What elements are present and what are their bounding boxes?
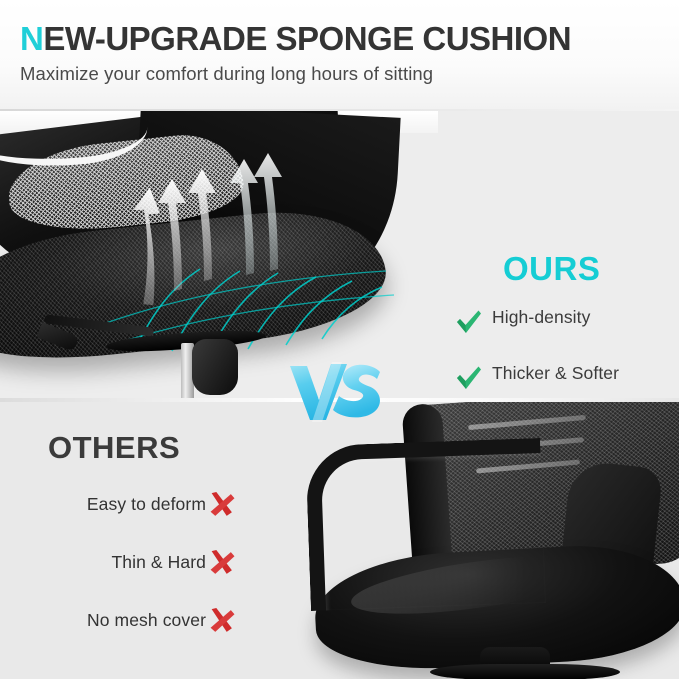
cylinder-cover	[192, 339, 238, 395]
left-armrest	[305, 438, 546, 611]
cross-icon	[208, 550, 235, 575]
page-subtitle: Maximize your comfort during long hours …	[20, 63, 679, 85]
list-item: Easy to deform	[20, 492, 235, 517]
header-banner: NEW-UPGRADE SPONGE CUSHION Maximize your…	[0, 0, 679, 110]
others-panel: OTHERS Easy to deform Thin & Hard No mes…	[0, 402, 679, 679]
ours-item-label: High-density	[492, 307, 590, 328]
ours-feature-list: High-density Thicker & Softer Breathable…	[455, 307, 670, 400]
product-comparison-infographic: NEW-UPGRADE SPONGE CUSHION Maximize your…	[0, 0, 679, 679]
chair-base	[430, 664, 620, 679]
check-icon	[455, 309, 483, 335]
cross-icon	[208, 492, 235, 517]
list-item: Thin & Hard	[20, 550, 235, 575]
ours-heading: OURS	[503, 250, 600, 288]
title-rest: EW-UPGRADE SPONGE CUSHION	[43, 20, 571, 57]
others-item-label: Easy to deform	[87, 494, 206, 515]
others-item-label: No mesh cover	[87, 610, 206, 631]
cross-icon	[208, 608, 235, 633]
ours-chair-photo	[0, 111, 438, 400]
ours-item-label: Thicker & Softer	[492, 363, 619, 384]
others-chair-photo	[320, 402, 679, 679]
list-item: High-density	[455, 307, 670, 335]
arrow-2	[158, 179, 186, 291]
arrow-4	[230, 159, 258, 275]
versus-badge	[288, 360, 388, 422]
title-highlight-letter: N	[20, 20, 43, 57]
check-icon	[455, 365, 483, 391]
others-feature-list: Easy to deform Thin & Hard No mesh cover	[20, 492, 235, 666]
ours-panel: OURS High-density Thicker & Softer	[0, 111, 679, 400]
arrow-5	[254, 153, 282, 271]
arrow-3	[188, 169, 216, 281]
list-item: No mesh cover	[20, 608, 235, 633]
others-item-label: Thin & Hard	[112, 552, 206, 573]
list-item: Thicker & Softer	[455, 363, 670, 391]
others-heading: OTHERS	[48, 430, 180, 466]
page-title: NEW-UPGRADE SPONGE CUSHION	[20, 22, 679, 57]
